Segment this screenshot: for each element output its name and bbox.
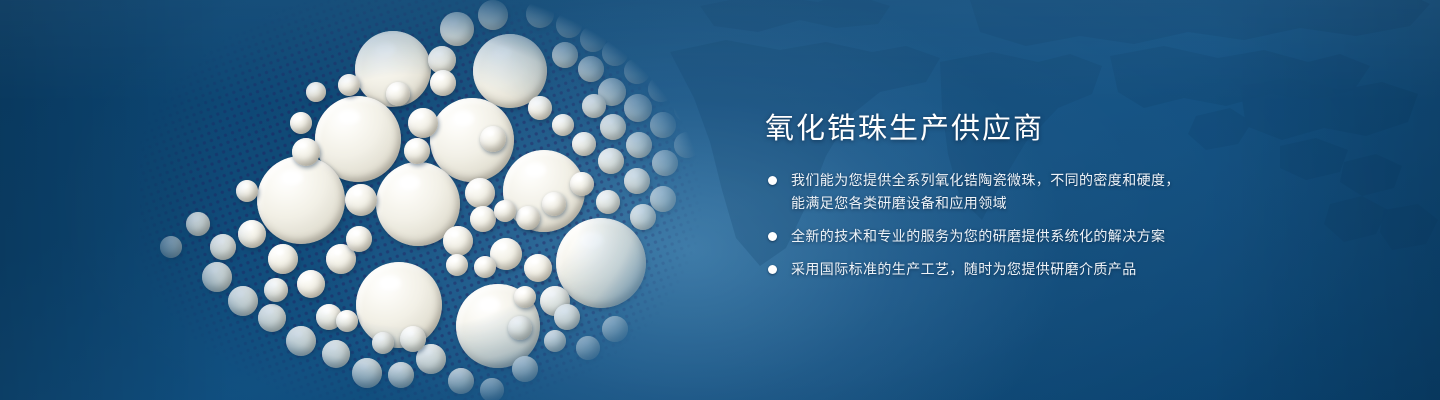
bead — [306, 82, 326, 102]
bead — [552, 42, 578, 68]
bead — [236, 180, 258, 202]
list-item-line1: 采用国际标准的生产工艺，随时为您提供研磨介质产品 — [791, 262, 1137, 278]
feature-list: 我们能为您提供全系列氧化锆陶瓷微珠，不同的密度和硬度， 能满足您各类研磨设备和应… — [765, 170, 1385, 282]
bead — [346, 226, 372, 252]
bead — [600, 114, 626, 140]
list-item: 我们能为您提供全系列氧化锆陶瓷微珠，不同的密度和硬度， 能满足您各类研磨设备和应… — [765, 170, 1385, 216]
bullet-dot-icon — [768, 265, 777, 274]
bead — [480, 378, 504, 400]
bead — [352, 358, 382, 388]
bead — [238, 220, 266, 248]
bead — [470, 206, 496, 232]
bead — [228, 286, 258, 316]
bead — [404, 138, 430, 164]
bead — [514, 286, 536, 308]
bead — [160, 236, 182, 258]
bead — [582, 94, 606, 118]
bead — [648, 8, 674, 34]
bead — [512, 356, 538, 382]
bead — [650, 186, 676, 212]
bead — [672, 26, 698, 52]
list-item-text: 全新的技术和专业的服务为您的研磨提供系统化的解决方案 — [791, 226, 1385, 249]
bead — [372, 332, 394, 354]
bead — [474, 256, 496, 278]
list-item-line1: 全新的技术和专业的服务为您的研磨提供系统化的解决方案 — [791, 229, 1165, 245]
bead — [297, 270, 325, 298]
hero-copy: 氧化锆珠生产供应商 我们能为您提供全系列氧化锆陶瓷微珠，不同的密度和硬度， 能满… — [765, 108, 1385, 292]
bead — [446, 254, 468, 276]
bead — [322, 340, 350, 368]
bead — [430, 70, 456, 96]
bead — [674, 96, 700, 122]
bead — [528, 96, 552, 120]
bead — [602, 316, 628, 342]
hero-banner: 氧化锆珠生产供应商 我们能为您提供全系列氧化锆陶瓷微珠，不同的密度和硬度， 能满… — [0, 0, 1440, 400]
bead — [292, 138, 320, 166]
bead — [202, 262, 232, 292]
bead — [480, 126, 506, 152]
bead — [650, 112, 676, 138]
bead — [210, 234, 236, 260]
bead — [408, 108, 438, 138]
bead — [508, 316, 532, 340]
bead — [556, 218, 646, 308]
bead — [572, 132, 596, 156]
list-item: 采用国际标准的生产工艺，随时为您提供研磨介质产品 — [765, 259, 1385, 282]
bead-cluster — [140, 0, 710, 400]
bead — [336, 310, 358, 332]
bead — [526, 0, 554, 28]
bead — [400, 326, 426, 352]
bead — [672, 60, 698, 86]
bead — [356, 262, 442, 348]
list-item-line1: 我们能为您提供全系列氧化锆陶瓷微珠，不同的密度和硬度， — [791, 173, 1180, 189]
bead — [268, 244, 298, 274]
bead — [576, 336, 600, 360]
bead — [544, 330, 566, 352]
bead — [542, 192, 566, 216]
bead — [624, 94, 652, 122]
list-item-text: 我们能为您提供全系列氧化锆陶瓷微珠，不同的密度和硬度， 能满足您各类研磨设备和应… — [791, 170, 1385, 216]
list-item-line2: 能满足您各类研磨设备和应用领域 — [791, 193, 1385, 216]
bead — [598, 148, 624, 174]
bead — [570, 172, 594, 196]
bead — [646, 42, 672, 68]
bead — [494, 200, 516, 222]
bead — [257, 156, 345, 244]
bead — [596, 190, 620, 214]
bullet-dot-icon — [768, 232, 777, 241]
bead — [345, 184, 377, 216]
bead — [264, 278, 288, 302]
bead — [338, 74, 360, 96]
list-item-text: 采用国际标准的生产工艺，随时为您提供研磨介质产品 — [791, 259, 1385, 282]
bead — [652, 150, 678, 176]
bead — [465, 178, 495, 208]
page-title: 氧化锆珠生产供应商 — [765, 108, 1385, 148]
bead — [630, 204, 656, 230]
bead — [524, 254, 552, 282]
bullet-dot-icon — [768, 176, 777, 185]
bead — [674, 132, 700, 158]
bead — [448, 368, 474, 394]
bead — [443, 226, 473, 256]
bead — [478, 0, 508, 30]
bead — [290, 112, 312, 134]
bead — [602, 40, 628, 66]
zirconia-beads-photo — [140, 0, 710, 400]
bead — [186, 212, 210, 236]
bead — [552, 114, 574, 136]
bead — [440, 12, 474, 46]
bead — [554, 304, 580, 330]
bead — [624, 168, 650, 194]
bead — [624, 58, 650, 84]
list-item: 全新的技术和专业的服务为您的研磨提供系统化的解决方案 — [765, 226, 1385, 249]
bead — [556, 12, 582, 38]
bead — [578, 56, 604, 82]
bead — [258, 304, 286, 332]
bead — [516, 206, 540, 230]
bead — [286, 326, 316, 356]
bead — [626, 132, 652, 158]
bead — [386, 82, 410, 106]
bead — [388, 362, 414, 388]
bead — [648, 76, 674, 102]
